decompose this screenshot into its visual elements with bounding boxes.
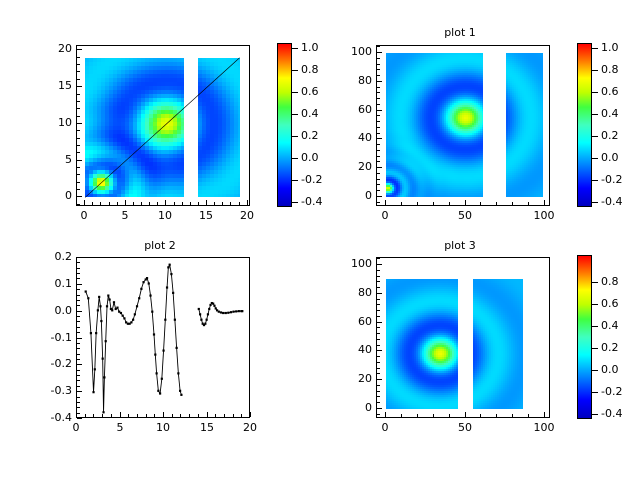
axis-major-tick [250,412,251,417]
axis-minor-tick [180,414,181,417]
axis-major-tick [77,49,82,50]
axis-tick-label: 100 [524,422,564,433]
colorbar-tick [292,136,298,137]
axis-minor-tick [377,87,380,88]
axis-minor-tick [377,385,380,386]
axis-tick-label: 100 [336,258,372,269]
data-point-marker [220,311,222,313]
data-point-marker [170,273,172,275]
axis-major-tick [377,350,382,351]
axis-minor-tick [377,92,380,93]
axis-minor-tick [401,414,402,417]
title-plot-1: plot 1 [360,27,560,39]
axis-tick-label: 5 [100,422,140,433]
axis-major-tick [77,338,82,339]
data-point-marker [207,313,209,315]
axis-tick-label: 0.2 [36,251,72,262]
data-point-marker [103,376,105,378]
axis-minor-tick [377,173,380,174]
axis-tick-label: 0.8 [301,64,319,75]
axis-minor-tick [512,202,513,205]
data-point-marker [161,378,163,380]
line-series-bottom-left [77,258,250,418]
axis-tick-label: 0.8 [601,64,619,75]
axis-minor-tick [377,362,380,363]
colorbar-tick [592,282,598,283]
subplot-bottom-right: plot 3 020406080100050100 0.80.60.40.20.… [320,240,640,480]
axis-minor-tick [377,144,380,145]
data-point-marker [169,264,171,266]
axis-minor-tick [377,184,380,185]
axis-major-tick [77,311,82,312]
axis-minor-tick [76,202,77,205]
axis-tick-label: 0.6 [601,86,619,97]
title-plot-3: plot 3 [360,240,560,252]
subplot-top-right: plot 1 020406080100050100 1.00.80.60.40.… [320,0,640,240]
colorbar-tick [592,414,598,415]
axis-minor-tick [77,289,80,290]
data-point-marker [156,372,158,374]
axis-tick-label: 15 [36,80,72,91]
axis-tick-label: 20 [336,161,372,172]
axis-tick-label: -0.4 [601,196,622,207]
axis-minor-tick [174,202,175,205]
axis-minor-tick [77,167,80,168]
axis-minor-tick [239,202,240,205]
colorbar-tick [292,114,298,115]
axis-minor-tick [77,130,80,131]
data-point-marker [90,332,92,334]
axis-minor-tick [377,156,380,157]
axis-minor-tick [233,414,234,417]
axis-tick-label: 50 [445,210,485,221]
axis-minor-tick [214,202,215,205]
axis-minor-tick [77,295,80,296]
axis-minor-tick [77,57,80,58]
axis-tick-label: 50 [445,422,485,433]
axes-top-right [376,45,550,206]
axis-minor-tick [222,202,223,205]
data-point-marker [199,313,201,315]
axis-major-tick [377,196,382,197]
colorbar-tick [592,158,598,159]
data-point-marker [107,294,109,296]
data-point-marker [134,313,136,315]
axes-bottom-left [76,257,250,418]
axis-minor-tick [190,202,191,205]
axis-minor-tick [377,373,380,374]
axis-minor-tick [117,202,118,205]
colorbar-tick [292,92,298,93]
axis-minor-tick [77,268,80,269]
data-point-marker [94,368,96,370]
axis-minor-tick [377,310,380,311]
axis-minor-tick [528,202,529,205]
axis-tick-label: 40 [336,132,372,143]
axis-minor-tick [417,202,418,205]
axis-minor-tick [377,391,380,392]
axis-tick-label: 0 [336,402,372,413]
data-point-marker [233,311,235,313]
axis-minor-tick [377,98,380,99]
data-point-marker [215,307,217,309]
axis-minor-tick [377,58,380,59]
axis-major-tick [163,412,164,417]
data-point-marker [166,286,168,288]
axis-tick-label: 0 [64,210,104,221]
data-point-marker [162,349,164,351]
axis-minor-tick [141,202,142,205]
axis-minor-tick [377,190,380,191]
axis-minor-tick [377,202,380,203]
axis-minor-tick [377,356,380,357]
data-point-marker [95,332,97,334]
axis-minor-tick [137,414,138,417]
colorbar-bottom-right [577,255,592,419]
axis-minor-tick [146,414,147,417]
axis-minor-tick [77,343,80,344]
axis-minor-tick [496,414,497,417]
axis-minor-tick [77,174,80,175]
axis-minor-tick [77,321,80,322]
axis-minor-tick [377,276,380,277]
axis-minor-tick [198,414,199,417]
data-point-marker [102,358,104,360]
axis-major-tick [77,391,82,392]
axis-minor-tick [102,414,103,417]
axis-major-tick [125,200,126,205]
axis-minor-tick [77,402,80,403]
heatmap-image-top-right [377,46,550,206]
colorbar-tick [592,370,598,371]
axis-tick-label: 0.4 [601,108,619,119]
axis-minor-tick [377,121,380,122]
axis-tick-label: -0.2 [601,174,622,185]
data-point-marker [177,372,179,374]
axis-minor-tick [77,359,80,360]
axis-minor-tick [77,273,80,274]
data-point-marker [209,304,211,306]
axis-minor-tick [377,402,380,403]
axis-minor-tick [377,258,380,259]
axis-minor-tick [109,202,110,205]
axis-minor-tick [77,386,80,387]
axis-minor-tick [92,202,93,205]
axis-major-tick [377,264,382,265]
axis-minor-tick [133,202,134,205]
axis-tick-label: 0.2 [601,342,619,353]
axis-major-tick [77,86,82,87]
data-point-marker [111,309,113,311]
data-point-marker [227,312,229,314]
line-path [199,303,243,325]
axis-tick-label: -0.2 [601,386,622,397]
colorbar-tick [592,48,598,49]
axis-major-tick [385,200,386,205]
axis-tick-label: 0.2 [601,130,619,141]
data-point-marker [85,290,87,292]
data-point-marker [230,311,232,313]
axis-major-tick [377,110,382,111]
data-point-marker [222,312,224,314]
axis-minor-tick [77,316,80,317]
axis-minor-tick [417,414,418,417]
axis-minor-tick [512,414,513,417]
colorbar-gradient-top-left [278,44,291,206]
axis-tick-label: 80 [336,75,372,86]
axis-minor-tick [77,278,80,279]
data-point-marker [120,312,122,314]
axis-minor-tick [77,413,80,414]
axis-tick-label: 0.0 [601,152,619,163]
colorbar-tick [292,180,298,181]
axis-minor-tick [77,305,80,306]
axis-minor-tick [182,202,183,205]
data-point-marker [87,297,89,299]
colorbar-gradient-top-right [578,44,591,206]
axis-minor-tick [77,71,80,72]
heatmap-image-top-left [77,46,250,206]
data-point-marker [212,303,214,305]
data-point-marker [238,310,240,312]
axis-minor-tick [77,262,80,263]
data-point-marker [172,292,174,294]
data-point-marker [167,266,169,268]
data-point-marker [109,298,111,300]
data-point-marker [241,310,243,312]
axis-major-tick [76,412,77,417]
axis-minor-tick [77,64,80,65]
colorbar-tick [592,136,598,137]
axis-minor-tick [111,414,112,417]
axis-minor-tick [77,204,80,205]
axis-tick-label: 15 [187,422,227,433]
axis-minor-tick [377,161,380,162]
data-point-marker [157,390,159,392]
data-point-marker [122,315,124,317]
data-point-marker [218,311,220,313]
axis-tick-label: 0 [365,210,405,221]
data-point-marker [149,294,151,296]
axis-minor-tick [172,414,173,417]
colorbar-top-left [277,43,292,207]
axis-minor-tick [77,348,80,349]
data-point-marker [225,312,227,314]
data-point-marker [142,281,144,283]
axis-major-tick [77,284,82,285]
axis-tick-label: 15 [186,210,226,221]
axis-minor-tick [377,75,380,76]
axis-major-tick [544,200,545,205]
axis-minor-tick [77,94,80,95]
axis-tick-label: 80 [336,287,372,298]
axis-tick-label: 0.0 [601,364,619,375]
data-point-marker [116,307,118,309]
axis-minor-tick [77,116,80,117]
axis-minor-tick [377,368,380,369]
colorbar-tick [592,392,598,393]
colorbar-tick [292,70,298,71]
axis-major-tick [465,200,466,205]
axis-major-tick [377,408,382,409]
axis-tick-label: 1.0 [601,42,619,53]
axis-minor-tick [77,79,80,80]
axis-tick-label: 100 [336,46,372,57]
axis-tick-label: 0.1 [36,278,72,289]
colorbar-tick [592,304,598,305]
axis-major-tick [377,379,382,380]
axis-minor-tick [77,380,80,381]
axis-minor-tick [377,345,380,346]
axis-minor-tick [377,333,380,334]
axis-minor-tick [377,287,380,288]
axis-minor-tick [377,270,380,271]
axis-tick-label: 0.0 [36,305,72,316]
axis-minor-tick [401,202,402,205]
axis-minor-tick [198,202,199,205]
heatmap-image-bottom-right [377,258,550,418]
axis-minor-tick [377,339,380,340]
axis-minor-tick [77,407,80,408]
axis-minor-tick [77,397,80,398]
axis-major-tick [377,81,382,82]
axis-minor-tick [224,414,225,417]
axis-minor-tick [77,375,80,376]
subplot-bottom-left: plot 2 0.20.10.0-0.1-0.2-0.3-0.405101520 [0,240,320,480]
axis-major-tick [544,412,545,417]
colorbar-tick [592,92,598,93]
data-point-marker [198,308,200,310]
axis-major-tick [77,418,82,419]
data-point-marker [179,390,181,392]
axis-major-tick [207,412,208,417]
colorbar-tick [592,202,598,203]
axis-tick-label: 20 [230,422,270,433]
axis-tick-label: 5 [105,210,145,221]
axis-tick-label: 0.4 [301,108,319,119]
axis-tick-label: -0.4 [601,408,622,419]
colorbar-tick [592,70,598,71]
axis-minor-tick [85,414,86,417]
colorbar-tick [592,114,598,115]
axis-minor-tick [100,202,101,205]
data-point-marker [106,305,108,307]
axis-minor-tick [377,150,380,151]
title-plot-2: plot 2 [60,240,260,252]
data-point-marker [153,333,155,335]
axis-major-tick [377,167,382,168]
axis-minor-tick [77,300,80,301]
data-point-marker [180,394,182,396]
axis-minor-tick [189,414,190,417]
axis-tick-label: 10 [143,422,183,433]
data-point-marker [92,391,94,393]
axis-minor-tick [77,332,80,333]
axis-minor-tick [154,414,155,417]
axis-tick-label: 0.0 [301,152,319,163]
axis-minor-tick [377,179,380,180]
data-point-marker [159,392,161,394]
axis-tick-label: 0 [56,422,96,433]
axis-minor-tick [377,299,380,300]
axis-minor-tick [377,69,380,70]
axis-minor-tick [77,354,80,355]
axes-top-left [76,45,250,206]
axis-tick-label: -0.2 [36,358,72,369]
data-point-marker [123,317,125,319]
data-point-marker [148,282,150,284]
axis-minor-tick [77,182,80,183]
axis-minor-tick [377,46,380,47]
axis-major-tick [377,52,382,53]
data-point-marker [176,347,178,349]
axis-major-tick [385,412,386,417]
axis-minor-tick [496,202,497,205]
axis-tick-label: 0.6 [301,86,319,97]
subplot-top-left: 0510152005101520 1.00.80.60.40.20.0-0.2-… [0,0,320,240]
axis-minor-tick [377,304,380,305]
data-point-marker [213,305,215,307]
data-point-marker [130,321,132,323]
axis-tick-label: 0.6 [601,298,619,309]
axis-tick-label: 0.2 [301,130,319,141]
axis-tick-label: -0.3 [36,385,72,396]
axis-tick-label: 60 [336,316,372,327]
colorbar-tick [292,158,298,159]
axis-minor-tick [230,202,231,205]
axis-minor-tick [377,64,380,65]
data-point-marker [113,301,115,303]
axis-major-tick [77,196,82,197]
axis-minor-tick [377,414,380,415]
axis-major-tick [120,412,121,417]
axis-minor-tick [377,115,380,116]
data-point-marker [132,319,134,321]
data-point-marker [235,310,237,312]
data-point-marker [204,323,206,325]
axis-minor-tick [241,414,242,417]
axis-minor-tick [377,127,380,128]
axis-tick-label: 10 [145,210,185,221]
axis-minor-tick [77,152,80,153]
data-point-marker [146,277,148,279]
axis-minor-tick [377,327,380,328]
axis-minor-tick [449,414,450,417]
data-point-marker [97,309,99,311]
axis-minor-tick [157,202,158,205]
axis-minor-tick [93,414,94,417]
data-point-marker [138,297,140,299]
axis-tick-label: 20 [336,373,372,384]
axis-tick-label: 100 [524,210,564,221]
data-point-marker [206,319,208,321]
axis-minor-tick [377,104,380,105]
data-point-marker [98,296,100,298]
axis-minor-tick [77,145,80,146]
axis-minor-tick [480,202,481,205]
axis-tick-label: 0.8 [601,276,619,287]
axis-tick-label: 60 [336,104,372,115]
axis-minor-tick [77,101,80,102]
colorbar-tick [592,326,598,327]
axis-minor-tick [377,396,380,397]
axis-major-tick [206,200,207,205]
axis-major-tick [77,257,82,258]
axis-tick-label: 0.4 [601,320,619,331]
axis-minor-tick [433,414,434,417]
data-point-marker [200,319,202,321]
data-point-marker [100,320,102,322]
